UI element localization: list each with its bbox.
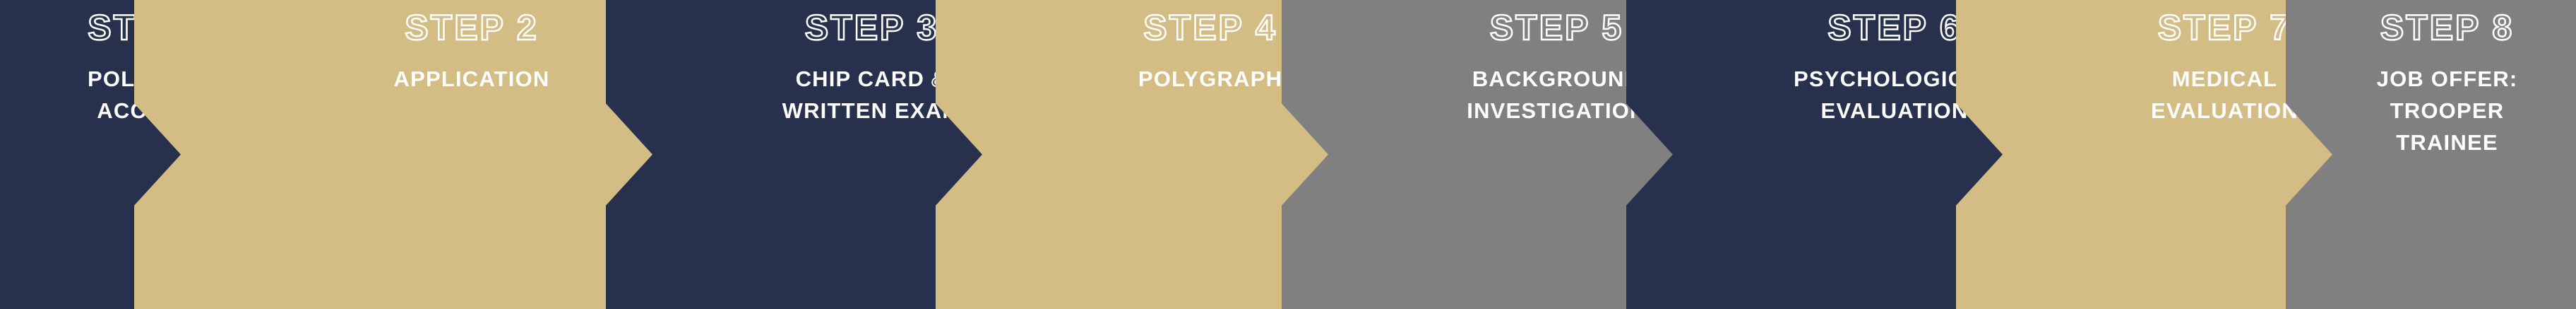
step-description-line: TRAINEE (2377, 127, 2518, 159)
step-description-line: TROOPER (2377, 95, 2518, 127)
step-description-line: APPLICATION (393, 64, 549, 95)
step-description: POLYGRAPH (1131, 64, 1289, 95)
step-description-line: EVALUATION (2151, 95, 2298, 127)
step-number-label: STEP 2 (405, 10, 538, 45)
step-number-label: STEP 4 (1143, 10, 1277, 45)
step-description-line: CHIP CARD & (782, 64, 962, 95)
step-number-label: STEP 8 (2380, 10, 2514, 45)
step-description: APPLICATION (386, 64, 556, 95)
step-description-line: INVESTIGATION (1467, 95, 1646, 127)
step-number-label: STEP 7 (2158, 10, 2291, 45)
step-description: BACKGROUNDINVESTIGATION (1460, 64, 1653, 127)
step-number-label: STEP 3 (805, 10, 938, 45)
process-flow-diagram: STEP 1POLICEAPPACCOUNTSTEP 2APPLICATIONS… (0, 0, 2576, 309)
step-description-line: MEDICAL (2151, 64, 2298, 95)
step-description: JOB OFFER:TROOPERTRAINEE (2370, 64, 2525, 159)
step-number-label: STEP 5 (1490, 10, 1623, 45)
step-description: MEDICALEVALUATION (2144, 64, 2306, 127)
step-number-label: STEP 6 (1827, 10, 1961, 45)
step-content: STEP 8JOB OFFER:TROOPERTRAINEE (2286, 0, 2576, 159)
step-description-line: BACKGROUND (1467, 64, 1646, 95)
step-description-line: POLYGRAPH (1138, 64, 1282, 95)
step-description-line: JOB OFFER: (2377, 64, 2518, 95)
step-description-line: WRITTEN EXAM (782, 95, 962, 127)
